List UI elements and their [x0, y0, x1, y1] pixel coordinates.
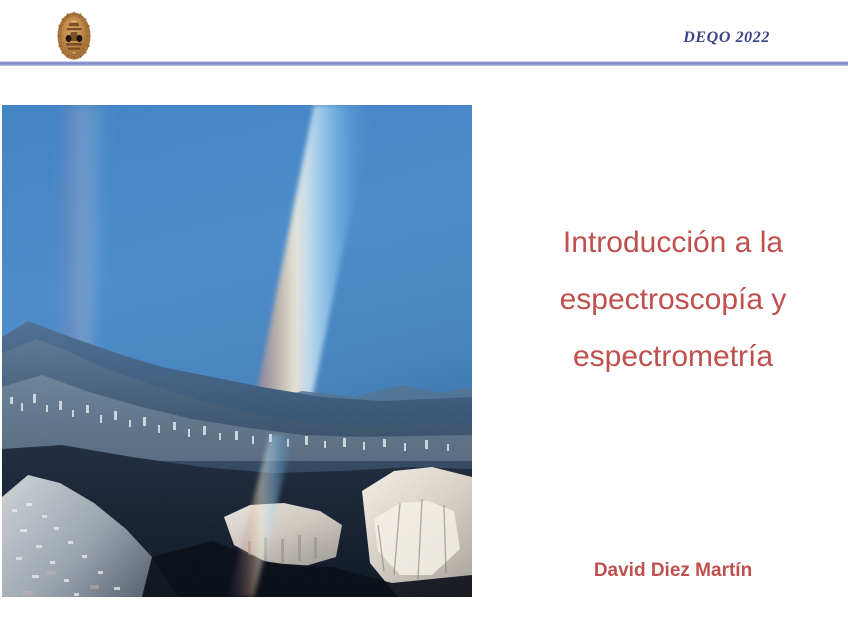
author-block: David Diez Martín: [498, 560, 848, 582]
slide: DEQO 2022: [0, 0, 848, 636]
header-divider: [0, 61, 848, 66]
title-line-2: espectroscopía y: [498, 271, 848, 328]
university-seal-icon: [57, 11, 91, 60]
title-line-3: espectrometría: [498, 328, 848, 385]
author-name: David Diez Martín: [498, 560, 848, 582]
course-code-label: DEQO 2022: [683, 29, 770, 47]
slide-header: DEQO 2022: [0, 0, 848, 67]
title-line-1: Introducción a la: [498, 214, 848, 271]
photo-caption: [6, 598, 336, 610]
slide-title: Introducción a la espectroscopía y espec…: [498, 214, 848, 385]
rainbow-photo: [2, 105, 472, 597]
